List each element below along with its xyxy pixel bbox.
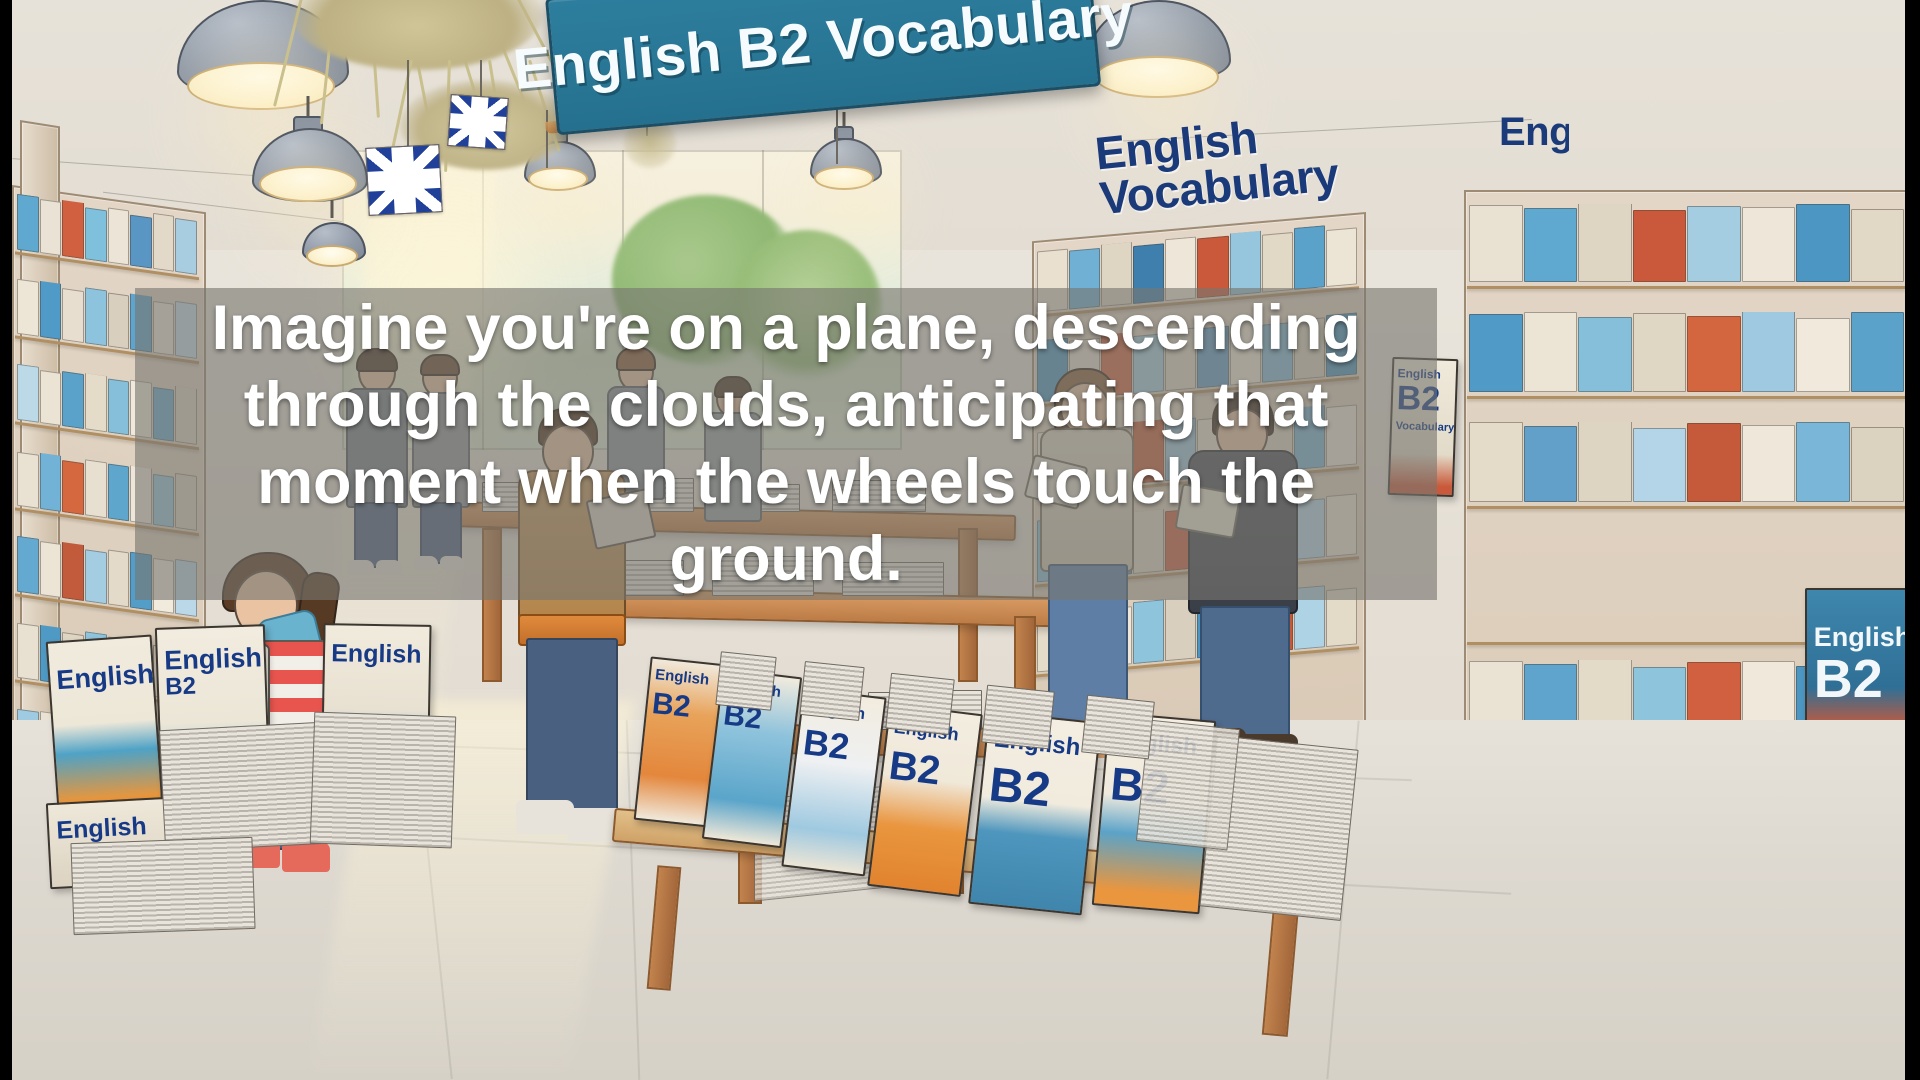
book-stack: [310, 712, 457, 849]
flag-wire: [407, 60, 409, 146]
book-title: English: [1814, 624, 1905, 651]
book-title: English: [654, 667, 720, 689]
book-spine-block: [799, 661, 864, 721]
book-spine-block: [885, 673, 955, 735]
wall-sign-right: Engl: [1499, 110, 1569, 155]
lamp-glow: [800, 148, 910, 253]
union-jack-flag: [447, 94, 508, 150]
book-level: B2: [801, 724, 877, 769]
flag-wire: [480, 60, 482, 98]
book-stack: [70, 837, 255, 935]
letterbox-left: [0, 0, 12, 1080]
legs: [526, 638, 618, 818]
book-level: B2: [165, 672, 261, 699]
shelf-board: [1467, 396, 1905, 399]
shoe: [516, 800, 574, 834]
lamp-cord: [331, 200, 334, 218]
book-row: [1469, 422, 1904, 502]
book-title: English: [56, 661, 149, 694]
book-row: [1469, 312, 1904, 392]
book-cover-english-b2-shelf: English B2: [1805, 588, 1905, 742]
union-jack-flag: [365, 144, 442, 216]
pendant-cord: [546, 110, 548, 168]
book-spine-block: [1081, 695, 1155, 760]
book-spine-block: [981, 685, 1055, 750]
book-spine-block: [715, 651, 776, 711]
book-row: [1469, 204, 1904, 282]
book-level: B2: [1814, 652, 1905, 706]
book-stack-front-spines: [1136, 720, 1240, 851]
pendant-cord: [836, 108, 838, 164]
subtitle-text: Imagine you're on a plane, descending th…: [135, 288, 1437, 600]
book-title: English: [56, 813, 165, 844]
banner-text: English B2 Vocabulary: [510, 0, 1135, 103]
shelf-board: [1467, 506, 1905, 509]
book-level: B2: [987, 761, 1090, 819]
letterbox-right: [1905, 0, 1920, 1080]
book-stack: [159, 722, 327, 852]
shelf-board: [1467, 286, 1905, 289]
video-frame: English B2 Vocabulary English Vocabulary…: [0, 0, 1920, 1080]
pendant-lamp: [302, 218, 362, 273]
book-level: B2: [887, 746, 972, 796]
book-cover-english-left-1: English: [46, 635, 165, 826]
book-title: English: [164, 644, 260, 674]
shoe: [282, 842, 330, 872]
lamp-bulb: [306, 245, 359, 267]
book-title: English: [331, 641, 425, 668]
book-level: B2: [651, 689, 719, 726]
